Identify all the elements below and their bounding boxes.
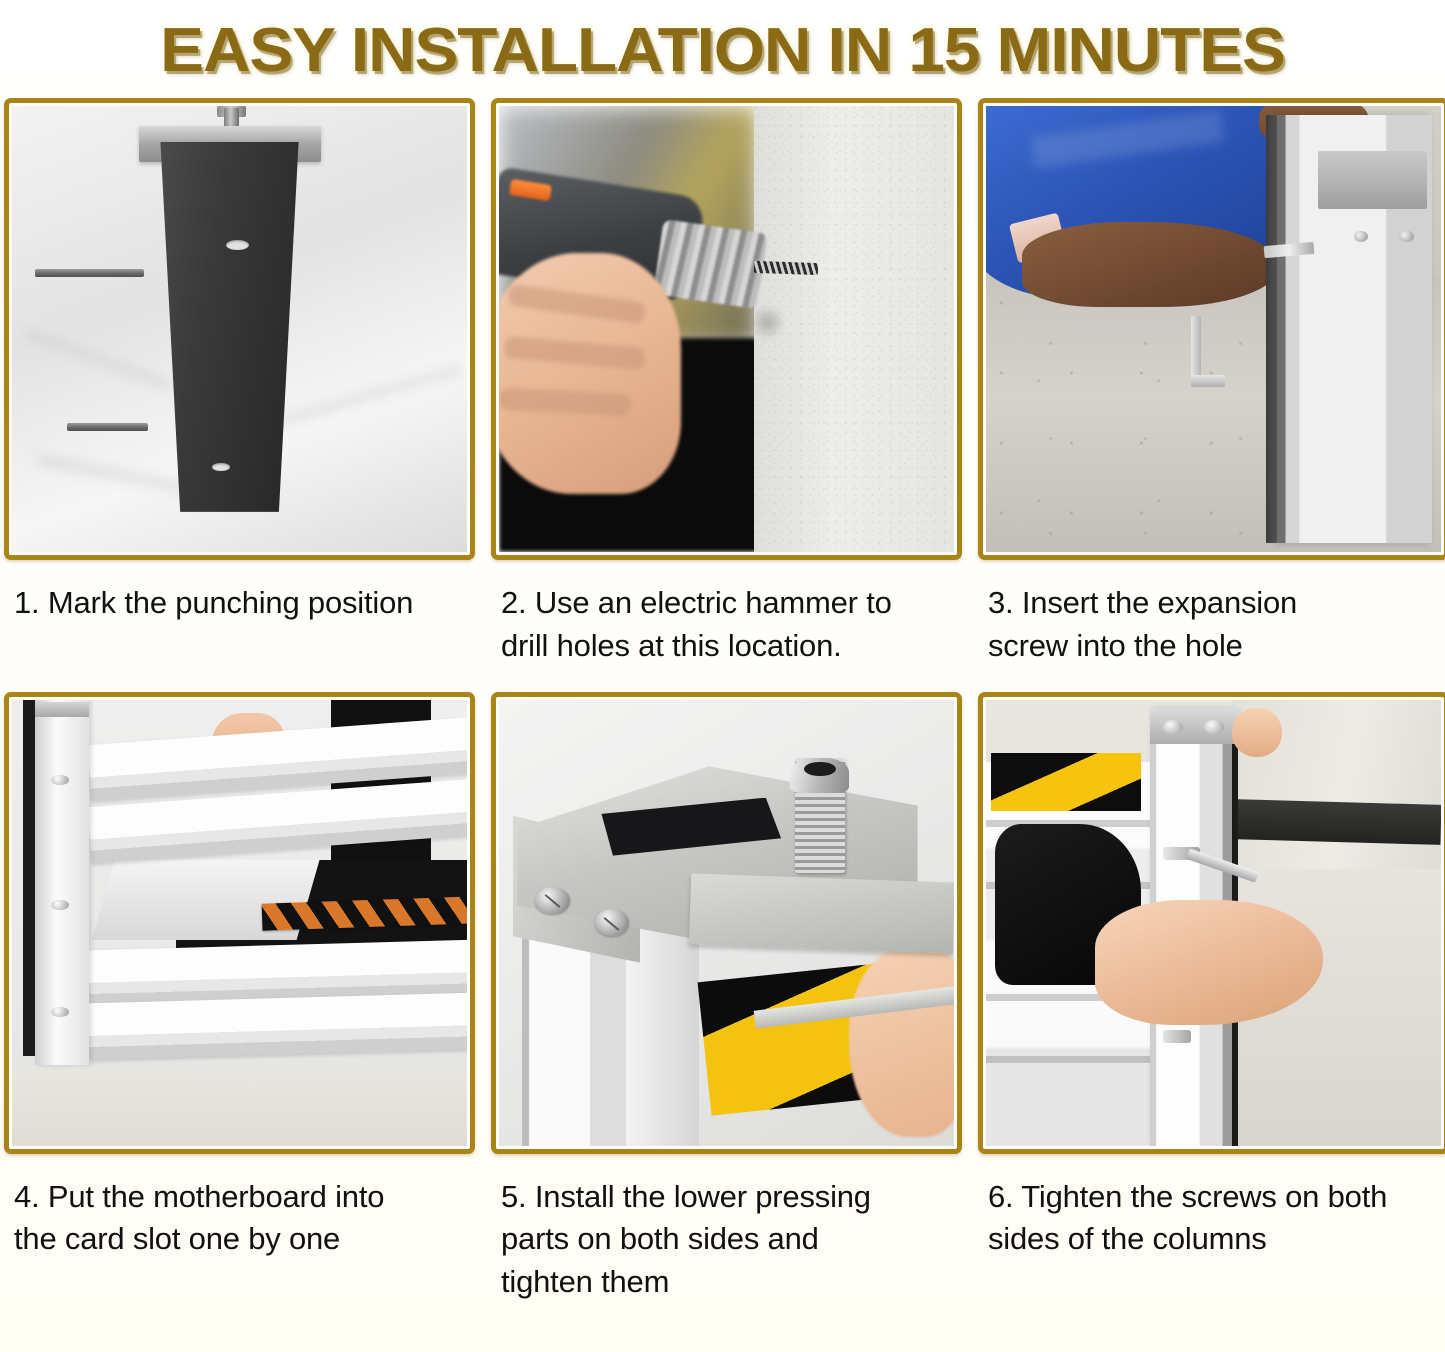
page-title: EASY INSTALLATION IN 15 MINUTES (160, 20, 1285, 82)
steps-grid: 1. Mark the punching position (0, 98, 1445, 1304)
drill-chuck (653, 219, 767, 309)
step-card-5: 5. Install the lower pressing parts on b… (491, 692, 962, 1304)
caption-line: 2. Use an electric hammer to (501, 582, 956, 625)
column-screw (1163, 1030, 1190, 1043)
barrier-board (89, 993, 467, 1060)
column-plate (1318, 151, 1427, 209)
drilling-holes-photo (499, 106, 954, 552)
caption-line: the card slot one by one (14, 1218, 469, 1261)
hazard-stripe (991, 753, 1141, 811)
step-photo-frame-1 (4, 98, 475, 560)
caption-line: 5. Install the lower pressing (501, 1176, 956, 1219)
drill-bit (754, 261, 818, 275)
column-post (158, 142, 299, 512)
row-spacer (4, 668, 1441, 692)
bracket-screw (595, 909, 629, 936)
step-photo-frame-6 (978, 692, 1445, 1154)
step-caption-1: 1. Mark the punching position (4, 560, 475, 625)
step-photo-frame-4 (4, 692, 475, 1154)
cloth-fold (278, 365, 464, 425)
lower-pressing-parts-photo (499, 700, 954, 1146)
step-caption-2: 2. Use an electric hammer to drill holes… (491, 560, 962, 668)
column-pin (51, 1007, 69, 1017)
column-screw (1163, 720, 1182, 734)
finger (849, 949, 954, 1136)
installation-guide-page: EASY INSTALLATION IN 15 MINUTES (0, 0, 1445, 1352)
step-photo-frame-2 (491, 98, 962, 560)
white-column-secondary (626, 931, 699, 1145)
column-screw (1204, 720, 1223, 734)
arm (1022, 222, 1277, 307)
steps-row-top: 1. Mark the punching position (4, 98, 1441, 668)
marking-punch-position-photo (12, 106, 467, 552)
step-caption-6: 6. Tighten the screws on both sides of t… (978, 1154, 1445, 1262)
baseboard (1231, 799, 1441, 845)
panel-seam (986, 1056, 1159, 1063)
drill-dust (749, 307, 785, 338)
steps-row-bottom: 4. Put the motherboard into the card slo… (4, 692, 1441, 1304)
mounting-hole (226, 240, 249, 250)
step-card-2: 2. Use an electric hammer to drill holes… (491, 98, 962, 668)
floor (12, 1070, 467, 1146)
mounting-pin (67, 423, 149, 431)
step-caption-3: 3. Insert the expansion screw into the h… (978, 560, 1445, 668)
column-pin (51, 900, 69, 910)
step-card-3: 3. Insert the expansion screw into the h… (978, 98, 1445, 668)
step-card-1: 1. Mark the punching position (4, 98, 475, 668)
column-bolt (1399, 231, 1414, 243)
allen-key (1191, 316, 1201, 387)
column-cap (35, 702, 90, 718)
cloth-fold (25, 330, 173, 389)
step-caption-4: 4. Put the motherboard into the card slo… (4, 1154, 475, 1262)
column-pin (51, 775, 69, 785)
hex-bolt-socket (804, 762, 836, 776)
caption-line: 6. Tighten the screws on both (988, 1176, 1443, 1219)
caption-line: 1. Mark the punching position (14, 582, 469, 625)
step-photo-frame-5 (491, 692, 962, 1154)
step-caption-5: 5. Install the lower pressing parts on b… (491, 1154, 962, 1304)
caption-line: tighten them (501, 1261, 956, 1304)
tighten-column-screws-photo (986, 700, 1441, 1146)
title-bar: EASY INSTALLATION IN 15 MINUTES (0, 0, 1445, 98)
caption-line: 4. Put the motherboard into (14, 1176, 469, 1219)
mounting-pin (35, 269, 144, 277)
expansion-screw-photo (986, 106, 1441, 552)
caption-line: 3. Insert the expansion (988, 582, 1443, 625)
caption-line: parts on both sides and (501, 1218, 956, 1261)
step-card-4: 4. Put the motherboard into the card slo… (4, 692, 475, 1304)
step-photo-frame-3 (978, 98, 1445, 560)
caption-line: sides of the columns (988, 1218, 1443, 1261)
bracket-screw (535, 887, 569, 914)
motherboard-card-slot-photo (12, 700, 467, 1146)
caption-line: drill holes at this location. (501, 625, 956, 668)
step-card-6: 6. Tighten the screws on both sides of t… (978, 692, 1445, 1304)
pressing-plate (689, 873, 954, 954)
thumb (1232, 708, 1282, 757)
caption-line: screw into the hole (988, 625, 1443, 668)
